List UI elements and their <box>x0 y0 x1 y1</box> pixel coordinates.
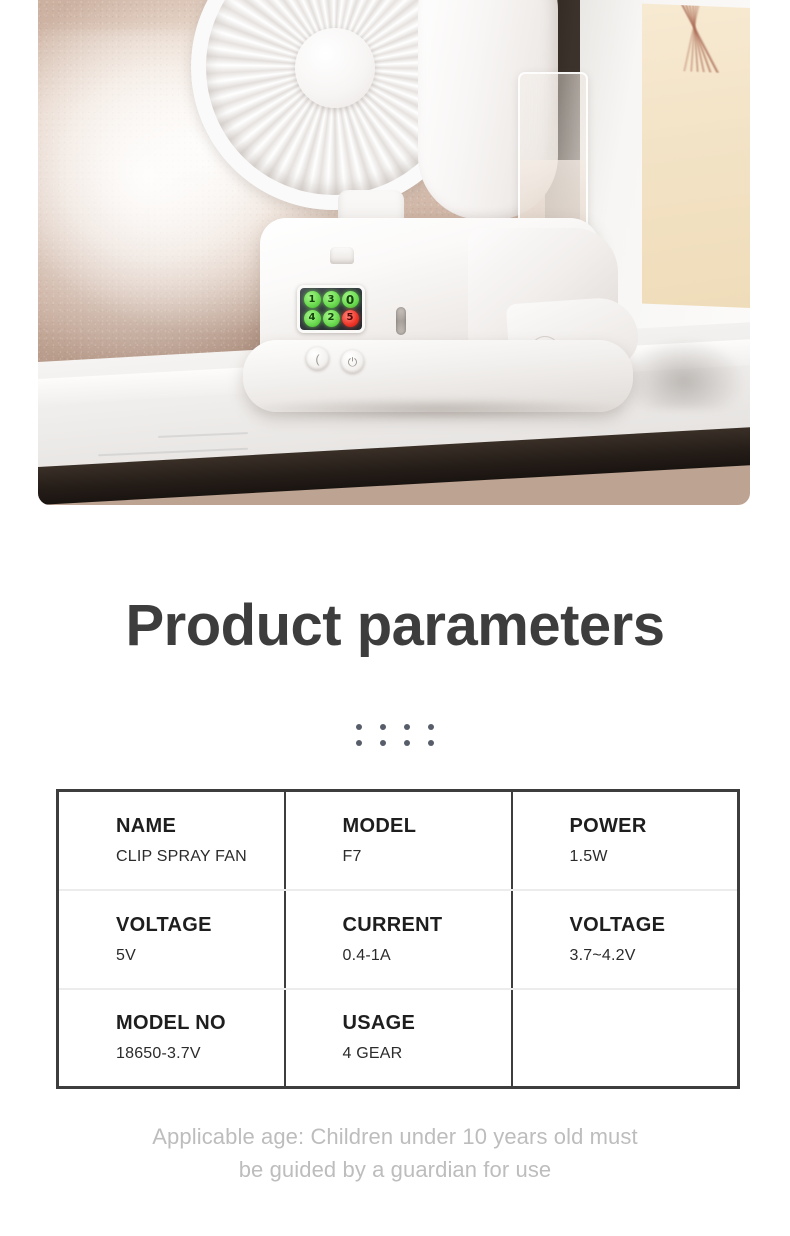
table-cell-voltage: VOLTAGE 5V <box>58 890 285 989</box>
ornament-dot <box>380 724 386 730</box>
spec-value: F7 <box>343 848 511 866</box>
dot-ornament <box>0 724 790 746</box>
spec-label: NAME <box>116 815 284 838</box>
ornament-dot <box>356 740 362 746</box>
table-cell-empty <box>512 989 739 1088</box>
table-row: NAME CLIP SPRAY FAN MODEL F7 POWER 1.5W <box>58 791 739 890</box>
product-detail-page: 1 3 0 4 2 5 ( ⏻ Product parameters <box>0 0 790 1236</box>
spec-label: USAGE <box>343 1012 511 1035</box>
table-cell-power: POWER 1.5W <box>512 791 739 890</box>
spec-value: 4 GEAR <box>343 1045 511 1063</box>
dot-ornament-grid <box>356 724 434 746</box>
led-indicator-3: 3 <box>323 291 340 308</box>
spec-label: POWER <box>570 815 738 838</box>
table-cell-name: NAME CLIP SPRAY FAN <box>58 791 285 890</box>
ornament-dot <box>380 740 386 746</box>
table-row: MODEL NO 18650-3.7V USAGE 4 GEAR <box>58 989 739 1088</box>
spray-button: ( <box>306 347 329 370</box>
ornament-dot <box>404 740 410 746</box>
spec-label: VOLTAGE <box>570 914 738 937</box>
spec-label: MODEL <box>343 815 511 838</box>
product-parameters-table: NAME CLIP SPRAY FAN MODEL F7 POWER 1.5W … <box>56 789 740 1089</box>
age-disclaimer-line-1: Applicable age: Children under 10 years … <box>0 1120 790 1153</box>
power-button: ⏻ <box>341 350 364 373</box>
spec-value: CLIP SPRAY FAN <box>116 848 284 866</box>
ornament-dot <box>356 724 362 730</box>
led-indicator-1: 1 <box>304 291 321 308</box>
usb-c-port <box>396 307 406 335</box>
spec-label: VOLTAGE <box>116 914 284 937</box>
product-hero-image: 1 3 0 4 2 5 ( ⏻ <box>38 0 750 505</box>
led-indicator-4: 4 <box>304 310 321 327</box>
led-indicator-panel: 1 3 0 4 2 5 <box>297 285 365 333</box>
power-icon: ⏻ <box>348 356 358 368</box>
led-indicator-alert: 5 <box>342 310 359 327</box>
table-cell-model-no: MODEL NO 18650-3.7V <box>58 989 285 1088</box>
base-shadow <box>250 398 622 420</box>
fan-hub <box>295 28 375 108</box>
spec-value: 1.5W <box>570 848 738 866</box>
clip-spray-fan-product: 1 3 0 4 2 5 ( ⏻ <box>38 0 750 505</box>
spec-label: MODEL NO <box>116 1012 284 1035</box>
table-cell-usage: USAGE 4 GEAR <box>285 989 512 1088</box>
table-cell-battery-voltage: VOLTAGE 3.7~4.2V <box>512 890 739 989</box>
ornament-dot <box>428 724 434 730</box>
table-cell-model: MODEL F7 <box>285 791 512 890</box>
spec-value: 5V <box>116 947 284 965</box>
table-cell-current: CURRENT 0.4-1A <box>285 890 512 989</box>
table-row: VOLTAGE 5V CURRENT 0.4-1A VOLTAGE 3.7~4.… <box>58 890 739 989</box>
spec-value: 3.7~4.2V <box>570 947 738 965</box>
age-disclaimer: Applicable age: Children under 10 years … <box>0 1120 790 1186</box>
led-indicator-oval: 0 <box>342 291 359 308</box>
page-title: Product parameters <box>0 592 790 659</box>
spec-value: 0.4-1A <box>343 947 511 965</box>
ornament-dot <box>428 740 434 746</box>
spray-icon: ( <box>316 353 320 365</box>
ornament-dot <box>404 724 410 730</box>
mist-nozzle <box>330 247 354 264</box>
spec-value: 18650-3.7V <box>116 1045 284 1063</box>
led-indicator-2: 2 <box>323 310 340 327</box>
spec-label: CURRENT <box>343 914 511 937</box>
age-disclaimer-line-2: be guided by a guardian for use <box>0 1153 790 1186</box>
